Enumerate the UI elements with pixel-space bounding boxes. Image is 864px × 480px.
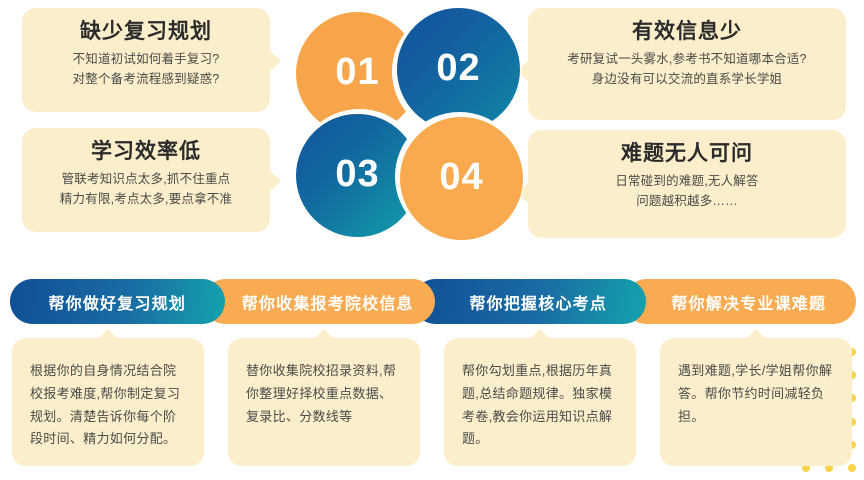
problem-line: 考研复试一头雾水,参考书不知道哪本合适? [542, 50, 832, 69]
card-notch-icon [746, 329, 766, 339]
problem-card-02: 有效信息少 考研复试一头雾水,参考书不知道哪本合适? 身边没有可以交流的直系学长… [528, 8, 846, 120]
problem-title: 缺少复习规划 [36, 18, 256, 46]
solution-tabs: 帮你做好复习规划 帮你收集报考院校信息 帮你把握核心考点 帮你解决专业课难题 [10, 279, 856, 324]
solution-card-3: 帮你勾划重点,根据历年真题,总结命题规律。独家模考卷,教会你运用知识点解题。 [444, 338, 636, 466]
problem-line: 日常碰到的难题,无人解答 [542, 172, 832, 191]
problem-title: 难题无人可问 [542, 140, 832, 168]
solution-card-wrap-4: 遇到难题,学长/学姐帮你解答。帮你节约时间减轻负担。 [648, 338, 864, 474]
solution-body: 帮你勾划重点,根据历年真题,总结命题规律。独家模考卷,教会你运用知识点解题。 [462, 360, 620, 451]
solution-body: 替你收集院校招录资料,帮你整理好择校重点数据、复录比、分数线等 [246, 360, 404, 428]
solution-card-wrap-3: 帮你勾划重点,根据历年真题,总结命题规律。独家模考卷,教会你运用知识点解题。 [432, 338, 648, 474]
problem-line: 问题越积越多…… [542, 192, 832, 211]
solution-cards: 根据你的自身情况结合院校报考难度,帮你制定复习规划。清楚告诉你每个阶段时间、精力… [0, 338, 864, 474]
number-circle-04: 04 [400, 117, 523, 240]
problem-card-01: 缺少复习规划 不知道初试如何着手复习? 对整个备考流程感到疑惑? [22, 8, 270, 112]
card-notch-icon [314, 329, 334, 339]
solution-card-1: 根据你的自身情况结合院校报考难度,帮你制定复习规划。清楚告诉你每个阶段时间、精力… [12, 338, 204, 466]
bubble-tail-icon [269, 170, 281, 192]
circle-number: 03 [335, 153, 379, 196]
problem-title: 有效信息少 [542, 18, 832, 46]
problem-title: 学习效率低 [36, 138, 256, 166]
tab-solution-3[interactable]: 帮你把握核心考点 [413, 279, 646, 324]
solution-body: 根据你的自身情况结合院校报考难度,帮你制定复习规划。清楚告诉你每个阶段时间、精力… [30, 360, 188, 451]
problem-card-04: 难题无人可问 日常碰到的难题,无人解答 问题越积越多…… [528, 130, 846, 238]
tab-solution-2[interactable]: 帮你收集报考院校信息 [203, 279, 436, 324]
solution-card-wrap-1: 根据你的自身情况结合院校报考难度,帮你制定复习规划。清楚告诉你每个阶段时间、精力… [0, 338, 216, 474]
problem-line: 不知道初试如何着手复习? [36, 50, 256, 69]
solution-card-4: 遇到难题,学长/学姐帮你解答。帮你节约时间减轻负担。 [660, 338, 852, 466]
bubble-tail-icon [269, 50, 281, 72]
problem-line: 对整个备考流程感到疑惑? [36, 70, 256, 89]
problem-line: 管联考知识点太多,抓不住重点 [36, 170, 256, 189]
circle-number: 01 [335, 51, 379, 94]
circle-number: 04 [439, 156, 483, 199]
circle-number: 02 [436, 47, 480, 90]
solution-card-wrap-2: 替你收集院校招录资料,帮你整理好择校重点数据、复录比、分数线等 [216, 338, 432, 474]
problem-card-03: 学习效率低 管联考知识点太多,抓不住重点 精力有限,考点太多,要点拿不准 [22, 128, 270, 232]
solution-body: 遇到难题,学长/学姐帮你解答。帮你节约时间减轻负担。 [678, 360, 836, 428]
card-notch-icon [98, 329, 118, 339]
tab-solution-1[interactable]: 帮你做好复习规划 [10, 279, 225, 324]
problems-section: 缺少复习规划 不知道初试如何着手复习? 对整个备考流程感到疑惑? 学习效率低 管… [0, 0, 864, 258]
problem-line: 身边没有可以交流的直系学长学姐 [542, 70, 832, 89]
number-circle-02: 02 [397, 8, 520, 131]
tab-solution-4[interactable]: 帮你解决专业课难题 [624, 279, 857, 324]
numbered-circles-cluster: 01 02 03 04 [296, 4, 528, 244]
problem-line: 精力有限,考点太多,要点拿不准 [36, 190, 256, 209]
card-notch-icon [530, 329, 550, 339]
solution-card-2: 替你收集院校招录资料,帮你整理好择校重点数据、复录比、分数线等 [228, 338, 420, 466]
